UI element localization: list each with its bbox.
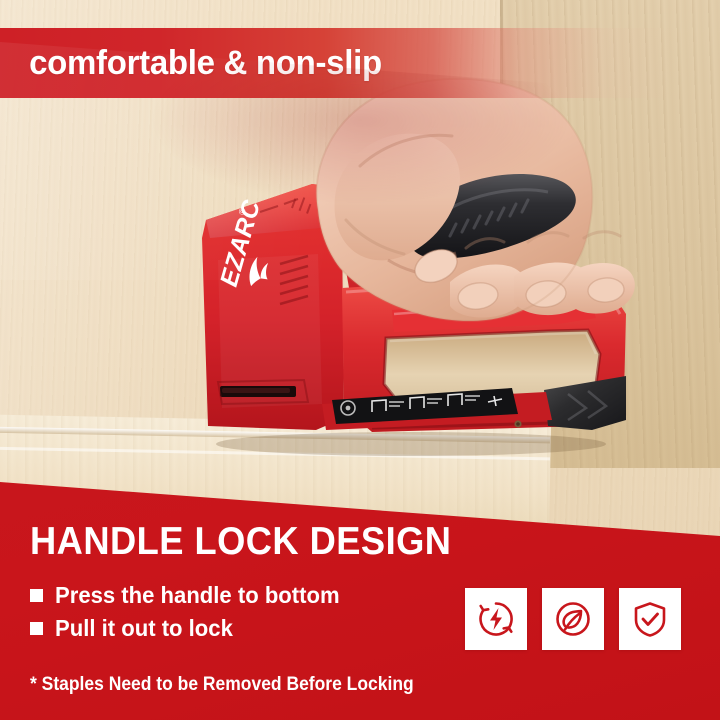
list-item: Press the handle to bottom — [30, 583, 450, 608]
bullet-label: Press the handle to bottom — [55, 583, 340, 608]
list-item: Pull it out to lock — [30, 616, 450, 641]
square-bullet-icon — [30, 589, 43, 602]
square-bullet-icon — [30, 622, 43, 635]
feature-panel-title: HANDLE LOCK DESIGN — [30, 522, 451, 561]
product-marketing-image: EZARC ® — [0, 0, 720, 720]
badge-eco-friendly — [542, 588, 604, 650]
badge-high-power — [465, 588, 527, 650]
shield-check-icon — [629, 598, 671, 640]
bullet-label: Pull it out to lock — [55, 616, 233, 641]
feature-badge-row — [465, 588, 681, 650]
badge-safety-assured — [619, 588, 681, 650]
power-bolt-refresh-icon — [475, 598, 517, 640]
feature-bullet-list: Press the handle to bottom Pull it out t… — [30, 583, 450, 650]
leaf-eco-icon — [552, 598, 594, 640]
feature-footnote: * Staples Need to be Removed Before Lock… — [30, 674, 414, 696]
